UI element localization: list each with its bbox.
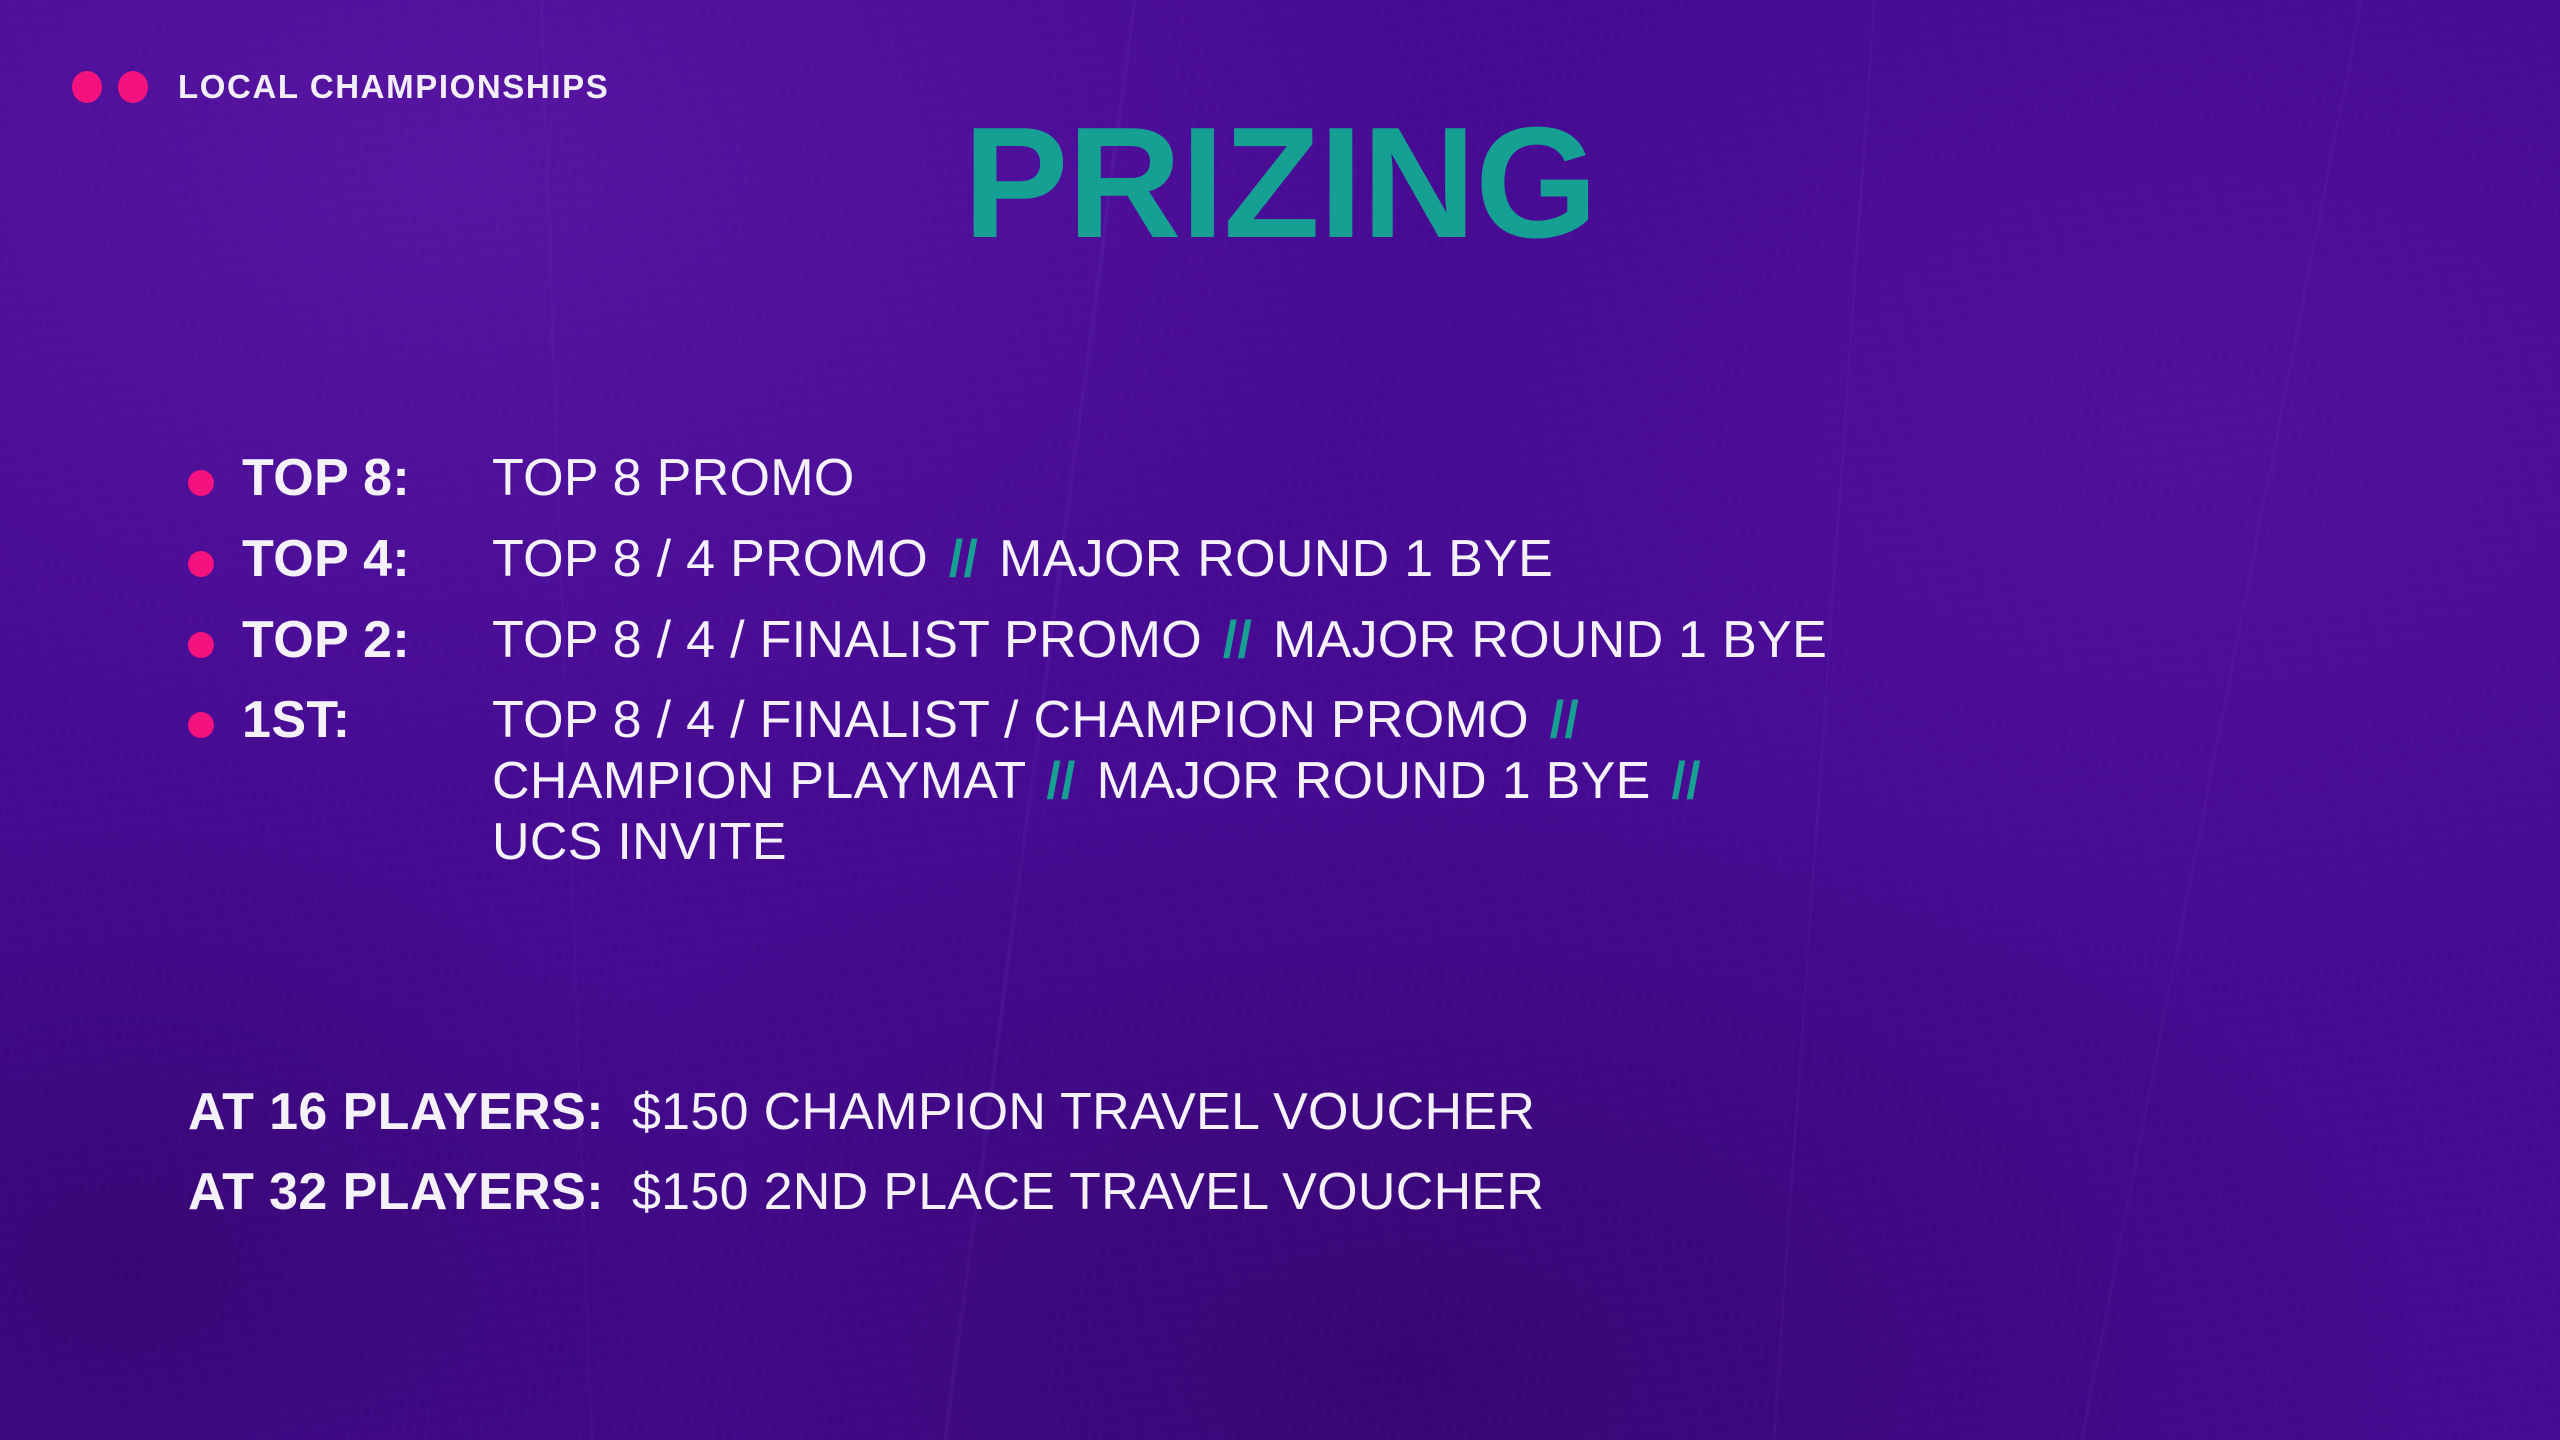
threshold-row: AT 16 PLAYERS:$150 CHAMPION TRAVEL VOUCH…: [188, 1082, 1544, 1142]
prize-row: TOP 4:TOP 8 / 4 PROMO // MAJOR ROUND 1 B…: [188, 529, 1827, 590]
separator-slashes: //: [1544, 691, 1586, 749]
prizing-slide: LOCAL CHAMPIONSHIPS PRIZING TOP 8:TOP 8 …: [0, 0, 2560, 1440]
pink-bullet-icon: [188, 551, 214, 577]
prize-reward-text: TOP 8 / 4 PROMO: [492, 530, 928, 588]
prize-placement-label: TOP 8:: [242, 448, 492, 509]
separator-slashes: //: [1665, 752, 1707, 810]
prize-reward-text: TOP 8 / 4 / FINALIST / CHAMPION PROMO: [492, 691, 1529, 749]
prize-reward-line: TOP 8 / 4 PROMO // MAJOR ROUND 1 BYE: [492, 529, 1827, 590]
prize-reward-group: TOP 8 / 4 / FINALIST PROMO // MAJOR ROUN…: [492, 610, 1827, 671]
page-title: PRIZING: [0, 104, 2560, 262]
prize-reward-text: TOP 8 PROMO: [492, 449, 855, 507]
pink-bullet-icon: [188, 712, 214, 738]
pink-dot-icon: [118, 71, 148, 103]
prize-reward-line: CHAMPION PLAYMAT // MAJOR ROUND 1 BYE //: [492, 751, 1827, 812]
prize-reward-text: TOP 8 / 4 / FINALIST PROMO: [492, 611, 1202, 669]
separator-slashes: //: [1217, 611, 1259, 669]
slide-header: LOCAL CHAMPIONSHIPS: [72, 68, 609, 106]
prize-reward-text: MAJOR ROUND 1 BYE: [1097, 752, 1651, 810]
prize-reward-text: UCS INVITE: [492, 813, 787, 871]
prize-reward-line: TOP 8 PROMO: [492, 448, 1827, 509]
threshold-label: AT 32 PLAYERS:: [188, 1162, 604, 1222]
prize-placement-label: TOP 2:: [242, 610, 492, 671]
prize-row: TOP 2:TOP 8 / 4 / FINALIST PROMO // MAJO…: [188, 610, 1827, 671]
separator-slashes: //: [943, 530, 985, 588]
prize-list: TOP 8:TOP 8 PROMOTOP 4:TOP 8 / 4 PROMO /…: [188, 448, 1827, 893]
prize-reward-group: TOP 8 PROMO: [492, 448, 1827, 509]
pink-bullet-icon: [188, 632, 214, 658]
prize-reward-text: MAJOR ROUND 1 BYE: [999, 530, 1553, 588]
threshold-list: AT 16 PLAYERS:$150 CHAMPION TRAVEL VOUCH…: [188, 1082, 1544, 1242]
prize-reward-line: TOP 8 / 4 / FINALIST / CHAMPION PROMO //: [492, 690, 1827, 751]
header-dots: [72, 71, 148, 103]
threshold-row: AT 32 PLAYERS:$150 2ND PLACE TRAVEL VOUC…: [188, 1162, 1544, 1222]
prize-row: 1ST:TOP 8 / 4 / FINALIST / CHAMPION PROM…: [188, 690, 1827, 872]
header-kicker: LOCAL CHAMPIONSHIPS: [178, 68, 609, 106]
prize-placement-label: 1ST:: [242, 690, 492, 751]
prize-reward-text: CHAMPION PLAYMAT: [492, 752, 1026, 810]
prize-reward-line: TOP 8 / 4 / FINALIST PROMO // MAJOR ROUN…: [492, 610, 1827, 671]
pink-dot-icon: [72, 71, 102, 103]
prize-row: TOP 8:TOP 8 PROMO: [188, 448, 1827, 509]
threshold-label: AT 16 PLAYERS:: [188, 1082, 604, 1142]
threshold-value: $150 CHAMPION TRAVEL VOUCHER: [632, 1082, 1535, 1142]
prize-reward-group: TOP 8 / 4 PROMO // MAJOR ROUND 1 BYE: [492, 529, 1827, 590]
prize-placement-label: TOP 4:: [242, 529, 492, 590]
threshold-value: $150 2ND PLACE TRAVEL VOUCHER: [632, 1162, 1544, 1222]
separator-slashes: //: [1040, 752, 1082, 810]
prize-reward-text: MAJOR ROUND 1 BYE: [1273, 611, 1827, 669]
pink-bullet-icon: [188, 470, 214, 496]
prize-reward-line: UCS INVITE: [492, 812, 1827, 873]
prize-reward-group: TOP 8 / 4 / FINALIST / CHAMPION PROMO //…: [492, 690, 1827, 872]
